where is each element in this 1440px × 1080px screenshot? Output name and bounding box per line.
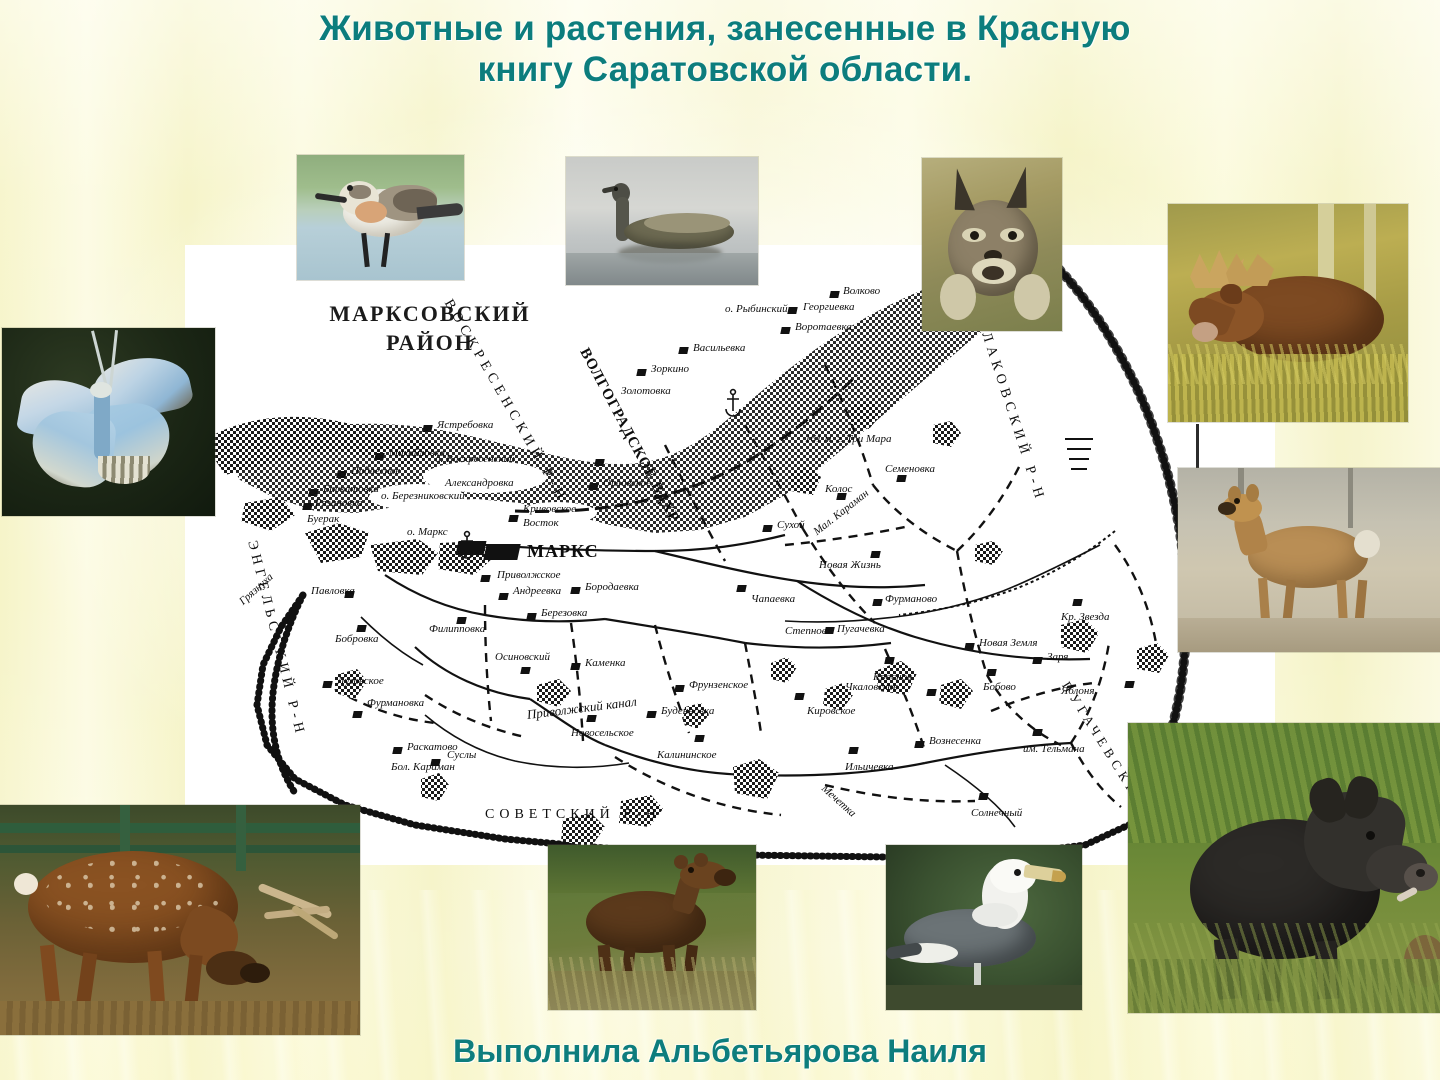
settlement-marker <box>926 689 936 696</box>
page-title-line-1: Животные и растения, занесенные в Красну… <box>120 8 1330 49</box>
settlement-marker <box>986 669 996 676</box>
settlement-marker <box>636 369 646 376</box>
settlement-label: Заря <box>1047 651 1068 663</box>
author-credit: Выполнила Альбетьярова Наиля <box>0 1033 1440 1070</box>
moose-photo <box>1168 204 1408 422</box>
settlement-label: им. Тельмана <box>1023 743 1085 755</box>
settlement-label: Каменка <box>585 657 626 669</box>
page-title-line-2: книгу Саратовской области. <box>120 49 1330 90</box>
page-title: Животные и растения, занесенные в Красну… <box>120 8 1330 91</box>
settlement-label: Филипповка <box>429 623 485 635</box>
photo-butterfly <box>2 328 215 516</box>
settlement-label: Колос <box>825 483 852 495</box>
photo-moose-top <box>1168 204 1408 422</box>
settlement-label: Новая Жизнь <box>819 559 881 571</box>
settlement-marker <box>430 759 440 766</box>
waterfowl-photo <box>566 157 758 285</box>
butterfly-photo <box>2 328 215 516</box>
settlement-marker <box>336 471 346 478</box>
sika-deer-photo <box>0 805 360 1035</box>
settlement-label: Михайловка <box>389 447 445 459</box>
photo-sanderling <box>297 155 464 280</box>
settlement-marker <box>794 693 804 700</box>
settlement-marker <box>884 657 894 664</box>
settlement-label: Приволжское <box>497 569 561 581</box>
city-label-marks: МАРКС <box>527 541 599 562</box>
city-marker <box>483 544 520 560</box>
settlement-label: Александровка <box>445 477 514 489</box>
photo-gull <box>886 845 1082 1010</box>
bird-wader-photo <box>297 155 464 280</box>
settlement-marker <box>374 453 384 460</box>
settlement-marker <box>526 613 536 620</box>
settlement-marker <box>1032 729 1042 736</box>
settlement-label: Васильевка <box>693 342 745 354</box>
settlement-label: Зоркино <box>651 363 689 375</box>
settlement-label: Березовка <box>541 607 587 619</box>
settlement-label: Солнечный <box>971 807 1022 819</box>
settlement-marker <box>498 593 508 600</box>
city-marker <box>456 541 487 555</box>
settlement-marker <box>870 551 880 558</box>
settlement-marker <box>872 599 882 606</box>
moose-calf-photo <box>548 845 756 1010</box>
settlement-label: Чапаевка <box>751 593 795 605</box>
settlement-label: Буденновка <box>661 705 714 717</box>
settlement-marker <box>508 515 518 522</box>
settlement-marker <box>302 503 312 510</box>
settlement-label: Бобровка <box>335 633 379 645</box>
settlement-label: Георгиевка <box>803 301 855 313</box>
gull-photo <box>886 845 1082 1010</box>
settlement-label: Семеновка <box>885 463 935 475</box>
settlement-marker <box>422 425 432 432</box>
settlement-label: Волково <box>843 285 880 297</box>
settlement-marker <box>964 643 974 650</box>
settlement-label: Воротаевка <box>795 321 852 333</box>
photo-grebe <box>566 157 758 285</box>
settlement-label: Новосельское <box>571 727 634 739</box>
settlement-marker <box>520 667 530 674</box>
settlement-marker <box>480 575 490 582</box>
settlement-marker <box>570 663 580 670</box>
lynx-photo <box>922 158 1062 331</box>
settlement-label: Буерак <box>307 513 339 525</box>
settlement-marker <box>588 483 598 490</box>
settlement-marker <box>308 489 318 496</box>
settlement-marker <box>914 741 924 748</box>
settlement-marker <box>1072 599 1082 606</box>
settlement-marker <box>646 711 656 718</box>
district-title-line-2: РАЙОН <box>290 329 570 358</box>
settlement-label: Осиновский <box>495 651 550 663</box>
settlement-label: Яблоня <box>1061 685 1095 697</box>
settlement-label: Орловское <box>603 477 651 489</box>
neighbor-district-label: СОВЕТСКИЙ Р-Н <box>485 807 661 823</box>
district-title: МАРКСОВСКИЙ РАЙОН <box>290 300 570 357</box>
settlement-label: Калининское <box>657 749 717 761</box>
settlement-marker <box>322 681 332 688</box>
settlement-marker <box>678 347 688 354</box>
photo-moose-bottom <box>548 845 756 1010</box>
settlement-label: Золотовка <box>621 385 671 397</box>
settlement-label: Новая Земля <box>979 637 1038 649</box>
settlement-label: Краснов <box>873 671 912 683</box>
settlement-label: Бородаевка <box>585 581 639 593</box>
settlement-marker <box>736 585 746 592</box>
settlement-marker <box>570 587 580 594</box>
settlement-label: Кр. Звезда <box>1061 611 1109 623</box>
district-map: МАРКСОВСКИЙ РАЙОН ВОСКРЕСЕНСКИЙ Р-Н ЭНГЕ… <box>185 245 1275 865</box>
roe-deer-photo <box>1178 468 1440 652</box>
settlement-label: Ильичевка <box>845 761 894 773</box>
settlement-label: Пугачевка <box>837 623 885 635</box>
island-label: о. Рыбинский <box>725 303 788 315</box>
district-title-line-1: МАРКСОВСКИЙ <box>290 300 570 329</box>
wild-boar-photo <box>1128 723 1440 1013</box>
settlement-label: Баскатовка <box>323 483 379 495</box>
settlement-label: Подлесное <box>351 465 400 477</box>
settlement-label: Вознесенка <box>929 735 981 747</box>
settlement-marker <box>762 525 772 532</box>
island-label: о. Березниковский <box>381 490 465 502</box>
settlement-label: Ястребовка <box>437 419 493 431</box>
settlement-marker <box>1124 681 1134 688</box>
settlement-marker <box>674 685 684 692</box>
settlement-label: Фурмановка <box>367 697 424 709</box>
settlement-label: Кривовское Восток <box>523 503 613 531</box>
settlement-marker <box>978 793 988 800</box>
settlement-label: Сухой <box>777 519 805 531</box>
settlement-marker <box>694 735 704 742</box>
settlement-marker <box>896 475 906 482</box>
settlement-label: Рязановка <box>315 497 362 509</box>
settlement-label: Суслы <box>447 749 476 761</box>
photo-connector-line <box>1196 424 1199 470</box>
settlement-marker <box>356 625 366 632</box>
settlement-label: Бобово <box>983 681 1016 693</box>
elevation-marker-label: 161 м. г. Три Мара <box>805 433 892 445</box>
settlement-marker <box>594 459 604 466</box>
photo-wild-boar <box>1128 723 1440 1013</box>
settlement-label: Луговское <box>337 675 384 687</box>
settlement-label: Павловка <box>311 585 355 597</box>
photo-roe-deer <box>1178 468 1440 652</box>
island-label: о. Воскресенский <box>435 453 515 465</box>
settlement-marker <box>848 747 858 754</box>
settlement-label: Фрунзенское <box>689 679 748 691</box>
settlement-marker <box>586 715 596 722</box>
settlement-marker <box>829 291 839 298</box>
settlement-marker <box>1032 657 1042 664</box>
island-label: о. Маркс <box>407 526 448 538</box>
settlement-label: Кировское <box>807 705 855 717</box>
presentation-slide: Животные и растения, занесенные в Красну… <box>0 0 1440 1080</box>
settlement-marker <box>352 711 362 718</box>
settlement-marker <box>780 327 790 334</box>
river-label: Бол. Караман <box>391 761 455 773</box>
settlement-marker <box>392 747 402 754</box>
settlement-label: Фурманово <box>885 593 937 605</box>
settlement-marker <box>787 307 797 314</box>
settlement-label: Степное <box>785 625 827 637</box>
photo-lynx <box>922 158 1062 331</box>
settlement-label: Андреевка <box>513 585 561 597</box>
photo-sika-deer <box>0 805 360 1035</box>
